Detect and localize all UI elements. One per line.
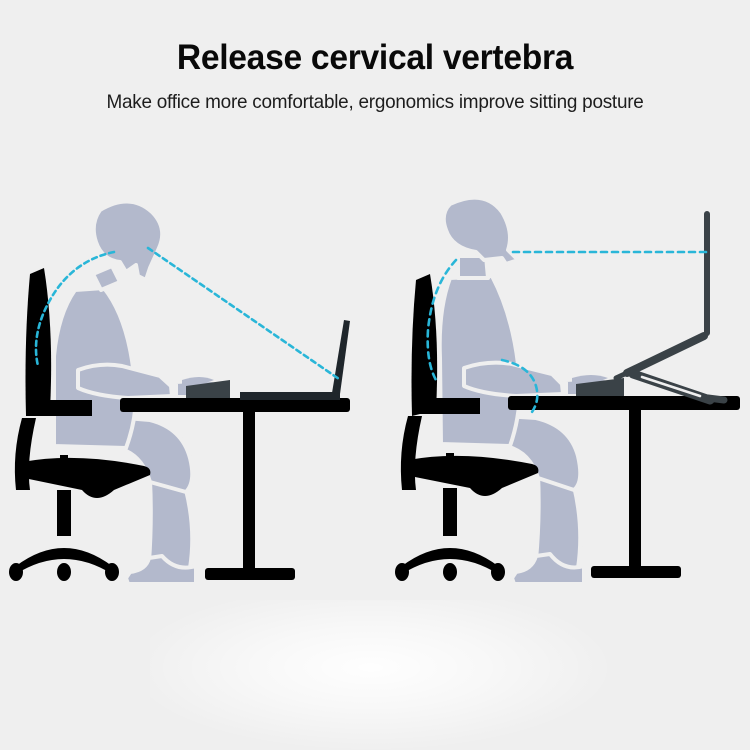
arm: [78, 365, 172, 398]
desk-column: [243, 412, 255, 572]
poster-canvas: Release cervical vertebra Make office mo…: [0, 0, 750, 750]
sightline-dashed-line: [148, 248, 339, 379]
chair-caster: [57, 563, 71, 581]
illustration-bad-posture: [9, 201, 350, 584]
chair-caster: [443, 563, 457, 581]
desk-top: [120, 398, 350, 412]
stand-foot: [708, 398, 724, 400]
laptop-stand-assembly: [616, 214, 724, 400]
chair-armrest: [412, 398, 480, 414]
chair-seat-stem: [446, 453, 454, 475]
header-block: Release cervical vertebra Make office mo…: [0, 0, 750, 114]
laptop-base: [240, 392, 340, 400]
stand-support-arm-inner: [642, 377, 700, 396]
chair-caster: [491, 563, 505, 581]
desk-foot: [205, 568, 295, 580]
chair-seat: [405, 456, 538, 496]
chair-backrest: [412, 274, 438, 416]
chair-back-stem: [401, 416, 422, 490]
chair-caster: [395, 563, 409, 581]
illustration-good-posture: [395, 198, 740, 584]
desk-foot: [591, 566, 681, 578]
stand-platform-lip: [616, 372, 629, 378]
chair-gas-cylinder: [57, 490, 71, 536]
arm: [464, 363, 563, 396]
page-title: Release cervical vertebra: [15, 0, 735, 78]
chair-backrest: [26, 268, 52, 416]
chair-caster: [105, 563, 119, 581]
illustration-scene: [0, 190, 750, 630]
laptop-screen: [332, 320, 350, 394]
chair-seat-stem: [60, 455, 68, 477]
devices-bad: [182, 320, 350, 400]
head: [444, 198, 518, 264]
chair-seat: [19, 458, 150, 498]
chair-armrest: [26, 400, 92, 416]
chair-gas-cylinder: [443, 488, 457, 536]
neck: [93, 266, 120, 290]
page-subtitle: Make office more comfortable, ergonomics…: [11, 78, 739, 114]
stand-platform: [627, 336, 704, 373]
desk-column: [629, 410, 641, 570]
chair-caster: [9, 563, 23, 581]
